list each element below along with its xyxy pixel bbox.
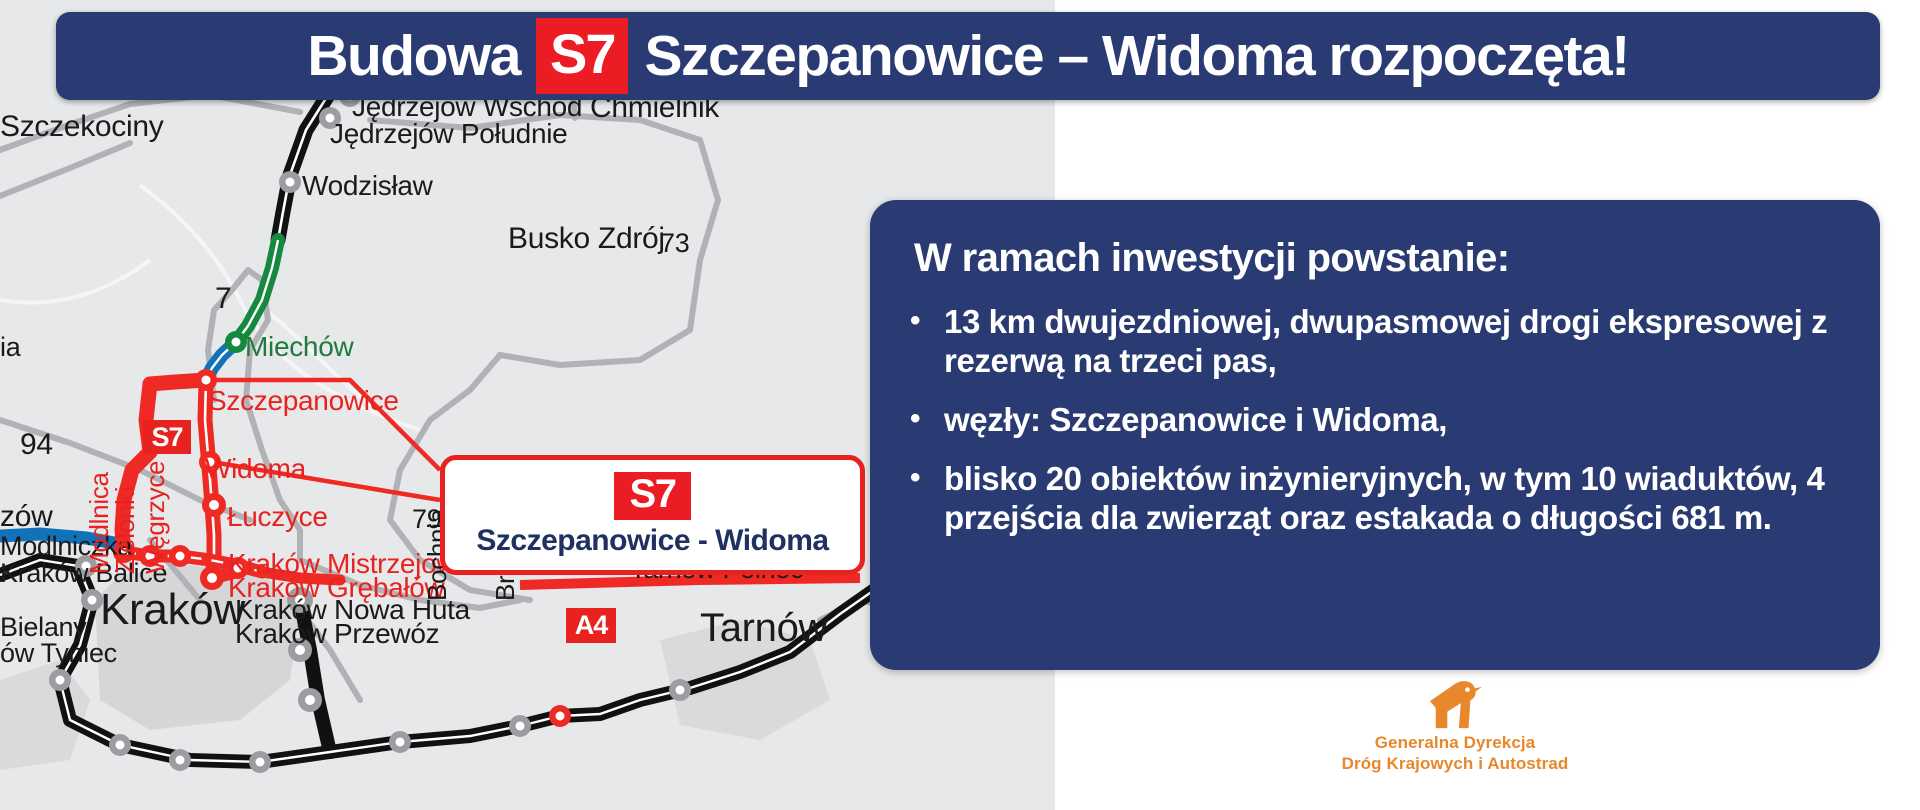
map-label-krakow-przewoz: Kraków Przewóz — [235, 620, 439, 648]
info-bullet-item: •węzły: Szczepanowice i Widoma, — [910, 401, 1846, 440]
bullet-marker-icon: • — [910, 303, 944, 381]
map-label-miechow: Miechów — [245, 333, 353, 361]
map-shield-a4: A4 — [566, 608, 616, 643]
title-s7-badge: S7 — [536, 18, 629, 94]
map-label-modlnica: Modlnica — [86, 472, 112, 574]
callout-subtitle: Szczepanowice - Widoma — [476, 524, 828, 558]
map-label-zielonki: Zielonki — [112, 487, 138, 574]
map-label-ow-tyniec: ów Tyniec — [0, 640, 117, 667]
map-label-ia: ia — [0, 334, 20, 361]
callout-s7-badge: S7 — [614, 472, 692, 520]
map-label-wodzislaw: Wodzisław — [302, 172, 433, 200]
map-label-tarnow: Tarnów — [700, 608, 827, 648]
map-label-zow: zów — [0, 502, 52, 532]
gddkia-logo: Generalna Dyrekcja Dróg Krajowych i Auto… — [1290, 680, 1620, 775]
title-before: Budowa — [297, 23, 530, 89]
title-banner: Budowa S7 Szczepanowice – Widoma rozpocz… — [56, 12, 1880, 100]
info-bullet-text: blisko 20 obiektów inżynieryjnych, w tym… — [944, 460, 1846, 538]
map-label-szczepanowice: Szczepanowice — [208, 387, 399, 415]
map-label-jedrzejow-poludnie: Jędrzejów Południe — [330, 120, 567, 148]
info-bullet-item: •blisko 20 obiektów inżynieryjnych, w ty… — [910, 460, 1846, 538]
map-label-wegrzyce: Węgrzyce — [142, 461, 168, 574]
bullet-marker-icon: • — [910, 401, 944, 440]
title-after: Szczepanowice – Widoma rozpoczęta! — [634, 23, 1638, 89]
map-callout-box: S7 Szczepanowice - Widoma — [440, 455, 865, 575]
info-panel-heading: W ramach inwestycji powstanie: — [914, 236, 1846, 281]
map-label-widoma: Widoma — [205, 455, 306, 483]
title-text: Budowa S7 Szczepanowice – Widoma rozpocz… — [297, 18, 1638, 94]
info-bullet-item: •13 km dwujezdniowej, dwupasmowej drogi … — [910, 303, 1846, 381]
map-label-route-7: 7 — [215, 284, 231, 314]
infographic-root: SzczekocinyJędrzejów WschódJędrzejów Poł… — [0, 0, 1920, 810]
map-shield-s7: S7 — [143, 420, 191, 454]
info-bullet-text: 13 km dwujezdniowej, dwupasmowej drogi e… — [944, 303, 1846, 381]
map-label-krakow: Kraków — [100, 588, 245, 632]
gddkia-eagle-icon — [1426, 680, 1484, 732]
map-label-szczekociny: Szczekociny — [0, 112, 163, 142]
logo-line-1: Generalna Dyrekcja — [1375, 732, 1536, 753]
logo-line-2: Dróg Krajowych i Autostrad — [1342, 753, 1569, 774]
map-label-route-73: 73 — [660, 230, 689, 257]
map-label-luczyce: Łuczyce — [227, 503, 328, 531]
map-label-busko-zdroj: Busko Zdrój — [508, 224, 665, 254]
info-bullet-list: •13 km dwujezdniowej, dwupasmowej drogi … — [910, 303, 1846, 538]
map-label-bielany: Bielany — [0, 614, 86, 641]
bullet-marker-icon: • — [910, 460, 944, 538]
info-bullet-text: węzły: Szczepanowice i Widoma, — [944, 401, 1846, 440]
map-label-route-94: 94 — [20, 430, 53, 460]
info-panel: W ramach inwestycji powstanie: •13 km dw… — [870, 200, 1880, 670]
